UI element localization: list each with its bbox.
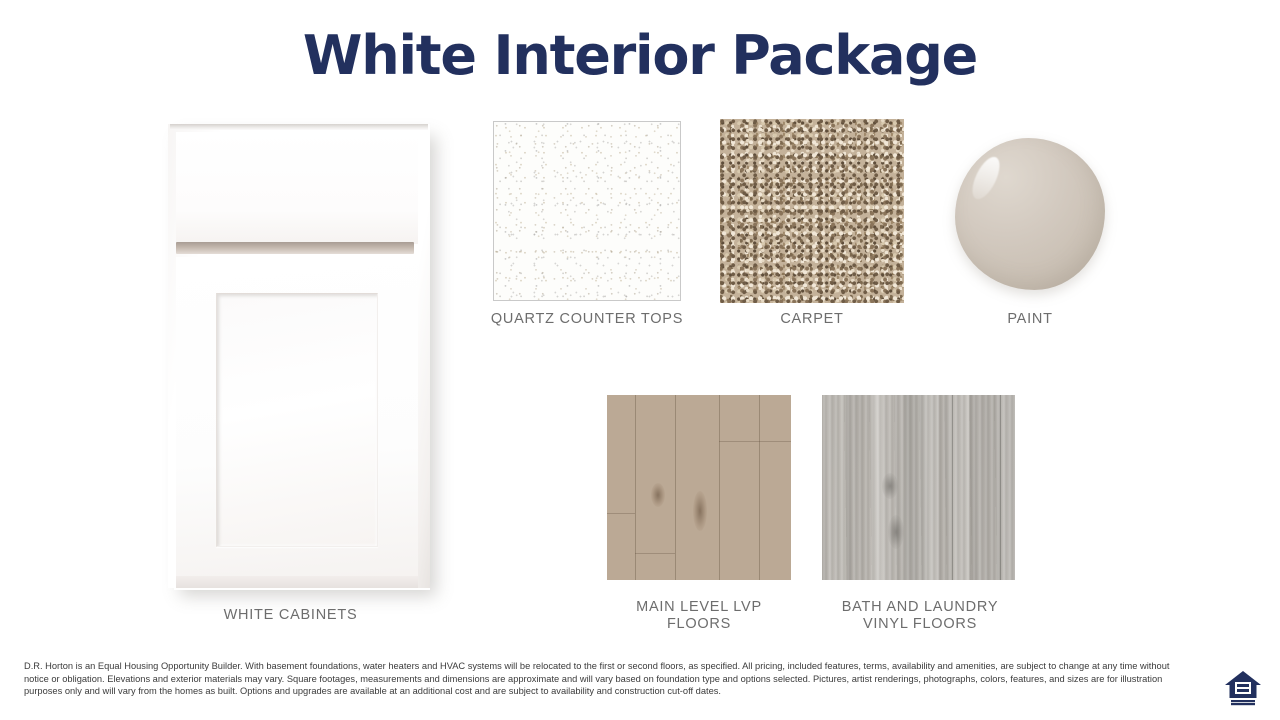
caption-quartz-counter-tops: QUARTZ COUNTER TOPS [476,311,698,328]
cabinet-drawer-front [176,132,418,244]
cabinet-reveal-gap [176,242,414,254]
lvp-texture [607,395,791,580]
swatch-quartz-counter-tops [493,121,681,301]
swatch-bath-and-laundry-vinyl-floors [822,395,1015,580]
caption-paint: PAINT [940,311,1120,328]
caption-bath-and-laundry-vinyl-floors: BATH AND LAUNDRY VINYL FLOORS [822,599,1018,633]
caption-carpet: CARPET [722,311,902,328]
legal-disclaimer: D.R. Horton is an Equal Housing Opportun… [24,660,1194,698]
cabinet-body [168,124,430,588]
swatch-paint [955,138,1105,290]
caption-main-level-lvp-floors: MAIN LEVEL LVP FLOORS [606,599,792,633]
cabinet-door [176,257,418,584]
paint-highlight [967,153,1005,203]
paint-drop [955,138,1105,290]
carpet-texture [720,119,904,303]
cabinet-top-edge [170,124,428,130]
swatch-main-level-lvp-floors [607,395,791,580]
swatch-white-cabinets [168,120,430,590]
cabinet-bottom-edge [176,576,418,588]
page-title: White Interior Package [0,26,1280,85]
swatch-carpet [720,119,904,303]
equal-housing-opportunity-logo [1222,665,1264,707]
quartz-texture [493,121,681,301]
cabinet-shaker-panel [216,293,378,547]
vinyl-texture [822,395,1015,580]
caption-white-cabinets: WHITE CABINETS [168,607,413,624]
